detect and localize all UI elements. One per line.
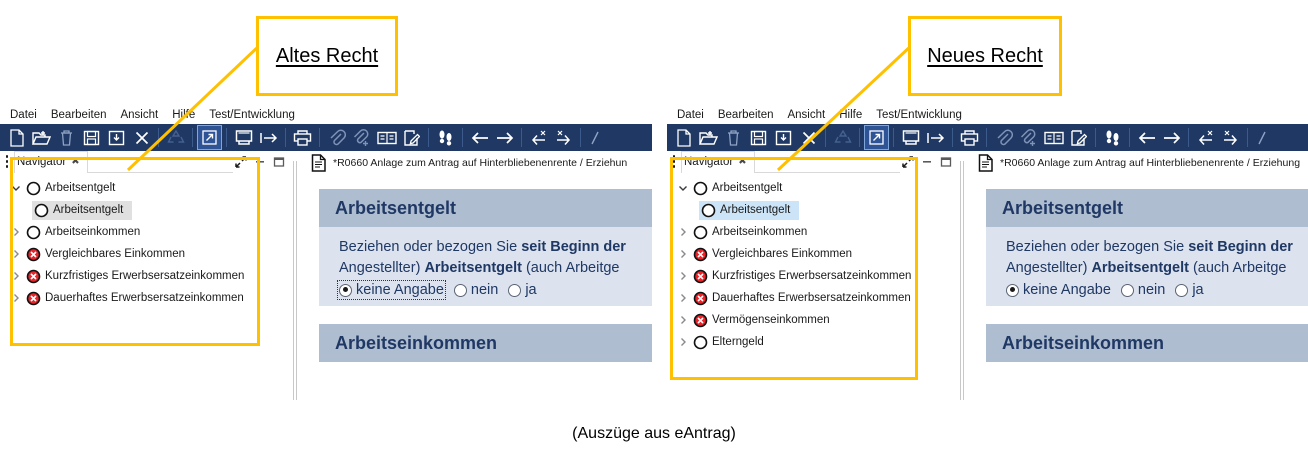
editor-area-left: *R0660 Anlage zum Antrag auf Hinterblieb… xyxy=(305,151,652,400)
editor-body-right: Arbeitsentgelt Beziehen oder bezogen Sie… xyxy=(972,175,1308,400)
radio-keine-angabe[interactable]: keine Angabe xyxy=(339,282,444,298)
section-heading-arbeitsentgelt: Arbeitsentgelt xyxy=(319,189,652,227)
tree-item-label: Arbeitsentgelt xyxy=(710,181,785,195)
footsteps-icon[interactable] xyxy=(1100,125,1125,150)
radio-button-icon[interactable] xyxy=(454,284,467,297)
radio-button-icon[interactable] xyxy=(339,284,352,297)
tree-row[interactable]: Kurzfristiges Erwerbsersatzeinkommen xyxy=(667,265,957,287)
attachment-add-icon[interactable] xyxy=(349,125,374,150)
callout-altes-recht: Altes Recht xyxy=(256,16,398,96)
radio-label: keine Angabe xyxy=(1023,282,1111,298)
editor-tab-title: *R0660 Anlage zum Antrag auf Hinterblieb… xyxy=(1000,157,1300,169)
question-line-1: Beziehen oder bezogen Sie seit Beginn de… xyxy=(1006,237,1308,258)
radio-ja[interactable]: ja xyxy=(1175,282,1203,298)
attachment-icon[interactable] xyxy=(991,125,1016,150)
chevron-right-icon[interactable] xyxy=(8,224,24,240)
question-text-bold-2: Arbeitsentgelt xyxy=(1091,260,1189,276)
radio-group-arbeitsentgelt: keine Angabe nein ja xyxy=(339,282,652,298)
radio-label: nein xyxy=(471,282,498,298)
question-text-a: Beziehen oder bezogen Sie xyxy=(339,239,521,255)
menu-item-bearbeiten[interactable]: Bearbeiten xyxy=(718,109,774,121)
editor-body-left: Arbeitsentgelt Beziehen oder bezogen Sie… xyxy=(305,175,652,400)
back-close-arrow-icon[interactable] xyxy=(526,125,551,150)
question-text-bold-2: Arbeitsentgelt xyxy=(424,260,522,276)
view-menu-icon[interactable] xyxy=(667,151,681,172)
tree-row-selected[interactable]: Arbeitsentgelt xyxy=(0,199,290,221)
navigator-view-right: Navigator ✖ Arbeitse xyxy=(667,151,957,400)
radio-label: ja xyxy=(525,282,536,298)
tab-navigator[interactable]: Navigator ✖ xyxy=(681,151,755,173)
toolbar-separator xyxy=(154,125,163,150)
radio-button-icon[interactable] xyxy=(1121,284,1134,297)
toolbar-separator xyxy=(889,125,898,150)
question-text-bold-1: seit Beginn der xyxy=(521,239,626,255)
radio-ja[interactable]: ja xyxy=(508,282,536,298)
circle-empty-icon xyxy=(24,179,43,198)
delete-trash-icon[interactable] xyxy=(721,125,746,150)
question-text-c: Angestellter) xyxy=(1006,260,1091,276)
section-body-arbeitsentgelt: Beziehen oder bezogen Sie seit Beginn de… xyxy=(986,227,1308,306)
book-icon[interactable] xyxy=(374,125,399,150)
partial-icon[interactable] xyxy=(1252,125,1277,150)
circle-empty-icon xyxy=(691,179,710,198)
callout-left-label: Altes Recht xyxy=(276,45,378,68)
transfer-arrow-icon[interactable] xyxy=(923,125,948,150)
question-line-2: Angestellter) Arbeitsentgelt (auch Arbei… xyxy=(1006,258,1308,279)
tree-item-label: Vermögenseinkommen xyxy=(710,313,833,327)
document-icon xyxy=(978,154,994,172)
toolbar-separator xyxy=(576,125,585,150)
radio-nein[interactable]: nein xyxy=(454,282,498,298)
toolbar-separator xyxy=(1091,125,1100,150)
edit-note-icon[interactable] xyxy=(1066,125,1091,150)
navigator-view-controls-left xyxy=(233,151,290,172)
monitor-icon[interactable] xyxy=(231,125,256,150)
tree-row[interactable]: Kurzfristiges Erwerbsersatzeinkommen xyxy=(0,265,290,287)
chevron-down-icon[interactable] xyxy=(8,180,24,196)
app-window-left: Datei Bearbeiten Ansicht Hilfe Test/Entw… xyxy=(0,105,652,400)
tree-item-label: Elterngeld xyxy=(710,335,767,349)
tree-item-label: Arbeitseinkommen xyxy=(710,225,810,239)
print-icon[interactable] xyxy=(957,125,982,150)
forward-close-arrow-icon[interactable] xyxy=(1218,125,1243,150)
chevron-right-icon[interactable] xyxy=(8,246,24,262)
callout-right-label: Neues Recht xyxy=(927,45,1043,68)
menu-item-test-entwicklung[interactable]: Test/Entwicklung xyxy=(209,109,295,121)
circle-empty-icon xyxy=(24,223,43,242)
document-icon xyxy=(311,154,327,172)
save-as-icon[interactable] xyxy=(104,125,129,150)
toolbar-separator xyxy=(1243,125,1252,150)
toolbar-separator xyxy=(315,125,324,150)
circle-empty-icon xyxy=(691,333,710,352)
radio-nein[interactable]: nein xyxy=(1121,282,1165,298)
radio-button-icon[interactable] xyxy=(1175,284,1188,297)
partial-icon[interactable] xyxy=(585,125,610,150)
save-as-icon[interactable] xyxy=(771,125,796,150)
tree-item-label: Dauerhaftes Erwerbsersatzeinkommen xyxy=(43,291,247,305)
tree-item-label: Vergleichbares Einkommen xyxy=(710,247,855,261)
question-line-1: Beziehen oder bezogen Sie seit Beginn de… xyxy=(339,237,652,258)
radio-label: ja xyxy=(1192,282,1203,298)
tree-item-label: Kurzfristiges Erwerbsersatzeinkommen xyxy=(43,269,247,283)
question-text-a: Beziehen oder bezogen Sie xyxy=(1006,239,1188,255)
editor-tab-row-left[interactable]: *R0660 Anlage zum Antrag auf Hinterblieb… xyxy=(305,151,652,175)
recycle-icon[interactable] xyxy=(830,125,855,150)
tree-row[interactable]: Arbeitsentgelt xyxy=(667,177,957,199)
question-line-2: Angestellter) Arbeitsentgelt (auch Arbei… xyxy=(339,258,652,279)
open-folder-icon[interactable] xyxy=(696,125,721,150)
toolbar-separator xyxy=(821,125,830,150)
back-arrow-icon[interactable] xyxy=(1134,125,1159,150)
toolbar-separator xyxy=(424,125,433,150)
menu-item-test-entwicklung[interactable]: Test/Entwicklung xyxy=(876,109,962,121)
navigator-tab-row-right: Navigator ✖ xyxy=(667,151,957,172)
menu-item-hilfe[interactable]: Hilfe xyxy=(839,109,862,121)
navigator-tree-right: Arbeitsentgelt Arbeitsentgelt Arb xyxy=(667,177,957,353)
tree-item-label: Kurzfristiges Erwerbsersatzeinkommen xyxy=(710,269,914,283)
toolbar-separator xyxy=(948,125,957,150)
circle-error-icon xyxy=(24,267,43,286)
question-text-d: (auch Arbeitge xyxy=(522,260,620,276)
maximize-view-icon[interactable] xyxy=(271,154,286,169)
navigator-tab-label: Navigator xyxy=(684,156,733,168)
circle-error-icon xyxy=(691,245,710,264)
toolbar-separator xyxy=(458,125,467,150)
toolbar-separator xyxy=(188,125,197,150)
print-icon[interactable] xyxy=(290,125,315,150)
tree-row[interactable]: Vergleichbares Einkommen xyxy=(667,243,957,265)
menu-item-datei[interactable]: Datei xyxy=(10,109,37,121)
toolbar-left xyxy=(0,124,652,151)
menu-item-bearbeiten[interactable]: Bearbeiten xyxy=(51,109,107,121)
chevron-right-icon[interactable] xyxy=(8,268,24,284)
tree-row[interactable]: Arbeitseinkommen xyxy=(0,221,290,243)
editor-area-right: *R0660 Anlage zum Antrag auf Hinterblieb… xyxy=(972,151,1308,400)
tree-row[interactable]: Vermögenseinkommen xyxy=(667,309,957,331)
circle-error-icon xyxy=(24,289,43,308)
editor-tab-row-right[interactable]: *R0660 Anlage zum Antrag auf Hinterblieb… xyxy=(972,151,1308,175)
toolbar-separator xyxy=(1125,125,1134,150)
open-folder-icon[interactable] xyxy=(29,125,54,150)
toolbar-right xyxy=(667,124,1308,151)
edit-note-icon[interactable] xyxy=(399,125,424,150)
book-icon[interactable] xyxy=(1041,125,1066,150)
menu-item-ansicht[interactable]: Ansicht xyxy=(120,109,158,121)
minimize-view-icon[interactable] xyxy=(252,154,267,169)
save-icon[interactable] xyxy=(746,125,771,150)
menu-item-ansicht[interactable]: Ansicht xyxy=(787,109,825,121)
save-icon[interactable] xyxy=(79,125,104,150)
radio-label: nein xyxy=(1138,282,1165,298)
section-heading-arbeitseinkommen: Arbeitseinkommen xyxy=(319,324,652,362)
callout-neues-recht: Neues Recht xyxy=(908,16,1062,96)
close-icon[interactable]: ✖ xyxy=(738,157,746,167)
editor-tab-title: *R0660 Anlage zum Antrag auf Hinterblieb… xyxy=(333,157,627,169)
forward-arrow-icon[interactable] xyxy=(1159,125,1184,150)
circle-error-icon xyxy=(691,267,710,286)
radio-button-icon[interactable] xyxy=(1006,284,1019,297)
forward-close-arrow-icon[interactable] xyxy=(551,125,576,150)
toolbar-separator xyxy=(982,125,991,150)
chevron-right-icon[interactable] xyxy=(675,224,691,240)
toolbar-separator xyxy=(1184,125,1193,150)
menu-item-hilfe[interactable]: Hilfe xyxy=(172,109,195,121)
navigator-view-left: Navigator ✖ xyxy=(0,151,290,400)
recycle-icon[interactable] xyxy=(163,125,188,150)
radio-group-arbeitsentgelt: keine Angabe nein ja xyxy=(1006,282,1308,298)
menubar-left: Datei Bearbeiten Ansicht Hilfe Test/Entw… xyxy=(0,105,652,124)
app-window-right: Datei Bearbeiten Ansicht Hilfe Test/Entw… xyxy=(667,105,1308,400)
tree-row[interactable]: Dauerhaftes Erwerbsersatzeinkommen xyxy=(0,287,290,309)
restore-view-icon[interactable] xyxy=(900,154,915,169)
panel-splitter-right[interactable] xyxy=(959,151,966,400)
tree-item-label: Arbeitsentgelt xyxy=(718,203,793,217)
section-body-arbeitsentgelt: Beziehen oder bezogen Sie seit Beginn de… xyxy=(319,227,652,306)
tree-row-selected[interactable]: Arbeitsentgelt xyxy=(667,199,957,221)
tree-row[interactable]: Vergleichbares Einkommen xyxy=(0,243,290,265)
back-arrow-icon[interactable] xyxy=(467,125,492,150)
circle-error-icon xyxy=(24,245,43,264)
export-arrow-icon[interactable] xyxy=(864,125,889,150)
chevron-right-icon[interactable] xyxy=(675,312,691,328)
section-heading-arbeitsentgelt: Arbeitsentgelt xyxy=(986,189,1308,227)
workbench-right: Navigator ✖ Arbeitse xyxy=(667,151,1308,400)
forward-arrow-icon[interactable] xyxy=(492,125,517,150)
radio-keine-angabe[interactable]: keine Angabe xyxy=(1006,282,1111,298)
circle-error-icon xyxy=(691,311,710,330)
tab-row-filler xyxy=(755,151,900,173)
new-document-icon[interactable] xyxy=(4,125,29,150)
tab-navigator[interactable]: Navigator ✖ xyxy=(14,151,88,173)
chevron-right-icon[interactable] xyxy=(675,290,691,306)
chevron-right-icon[interactable] xyxy=(675,334,691,350)
panel-splitter-left[interactable] xyxy=(292,151,299,400)
circle-empty-icon xyxy=(699,201,718,220)
tab-row-filler xyxy=(88,151,233,173)
circle-error-icon xyxy=(691,289,710,308)
chevron-right-icon[interactable] xyxy=(675,246,691,262)
transfer-arrow-icon[interactable] xyxy=(256,125,281,150)
export-arrow-icon[interactable] xyxy=(197,125,222,150)
question-text-bold-1: seit Beginn der xyxy=(1188,239,1293,255)
workbench-left: Navigator ✖ xyxy=(0,151,652,400)
chevron-down-icon[interactable] xyxy=(675,180,691,196)
question-text-d: (auch Arbeitge xyxy=(1189,260,1287,276)
monitor-icon[interactable] xyxy=(898,125,923,150)
tree-row[interactable]: Dauerhaftes Erwerbsersatzeinkommen xyxy=(667,287,957,309)
section-heading-arbeitseinkommen: Arbeitseinkommen xyxy=(986,324,1308,362)
navigator-tab-label: Navigator xyxy=(17,156,66,168)
menu-item-datei[interactable]: Datei xyxy=(677,109,704,121)
restore-view-icon[interactable] xyxy=(233,154,248,169)
tree-item-label: Arbeitsentgelt xyxy=(43,181,118,195)
footsteps-icon[interactable] xyxy=(433,125,458,150)
tree-row[interactable]: Arbeitseinkommen xyxy=(667,221,957,243)
new-document-icon[interactable] xyxy=(671,125,696,150)
chevron-right-icon[interactable] xyxy=(675,268,691,284)
view-menu-icon[interactable] xyxy=(0,151,14,172)
close-x-icon[interactable] xyxy=(796,125,821,150)
navigator-tab-row-left: Navigator ✖ xyxy=(0,151,290,172)
attachment-add-icon[interactable] xyxy=(1016,125,1041,150)
radio-label: keine Angabe xyxy=(356,282,444,298)
toolbar-separator xyxy=(517,125,526,150)
tree-row[interactable]: Arbeitsentgelt xyxy=(0,177,290,199)
tree-item-label: Arbeitseinkommen xyxy=(43,225,143,239)
figure-caption: (Auszüge aus eAntrag) xyxy=(0,425,1308,443)
toolbar-separator xyxy=(281,125,290,150)
navigator-view-controls-right xyxy=(900,151,957,172)
menubar-right: Datei Bearbeiten Ansicht Hilfe Test/Entw… xyxy=(667,105,1308,124)
navigator-tree-left: Arbeitsentgelt Arbeitsentgelt xyxy=(0,177,290,309)
circle-empty-icon xyxy=(691,223,710,242)
close-x-icon[interactable] xyxy=(129,125,154,150)
minimize-view-icon[interactable] xyxy=(919,154,934,169)
circle-empty-icon xyxy=(32,201,51,220)
back-close-arrow-icon[interactable] xyxy=(1193,125,1218,150)
screenshot-root: Altes Recht Neues Recht Datei Bearbeiten… xyxy=(0,0,1308,464)
maximize-view-icon[interactable] xyxy=(938,154,953,169)
delete-trash-icon[interactable] xyxy=(54,125,79,150)
tree-row[interactable]: Elterngeld xyxy=(667,331,957,353)
radio-button-icon[interactable] xyxy=(508,284,521,297)
tree-item-label: Arbeitsentgelt xyxy=(51,203,126,217)
tree-item-label: Dauerhaftes Erwerbsersatzeinkommen xyxy=(710,291,914,305)
toolbar-separator xyxy=(855,125,864,150)
attachment-icon[interactable] xyxy=(324,125,349,150)
close-icon[interactable]: ✖ xyxy=(71,157,79,167)
question-text-c: Angestellter) xyxy=(339,260,424,276)
tree-item-label: Vergleichbares Einkommen xyxy=(43,247,188,261)
toolbar-separator xyxy=(222,125,231,150)
chevron-right-icon[interactable] xyxy=(8,290,24,306)
